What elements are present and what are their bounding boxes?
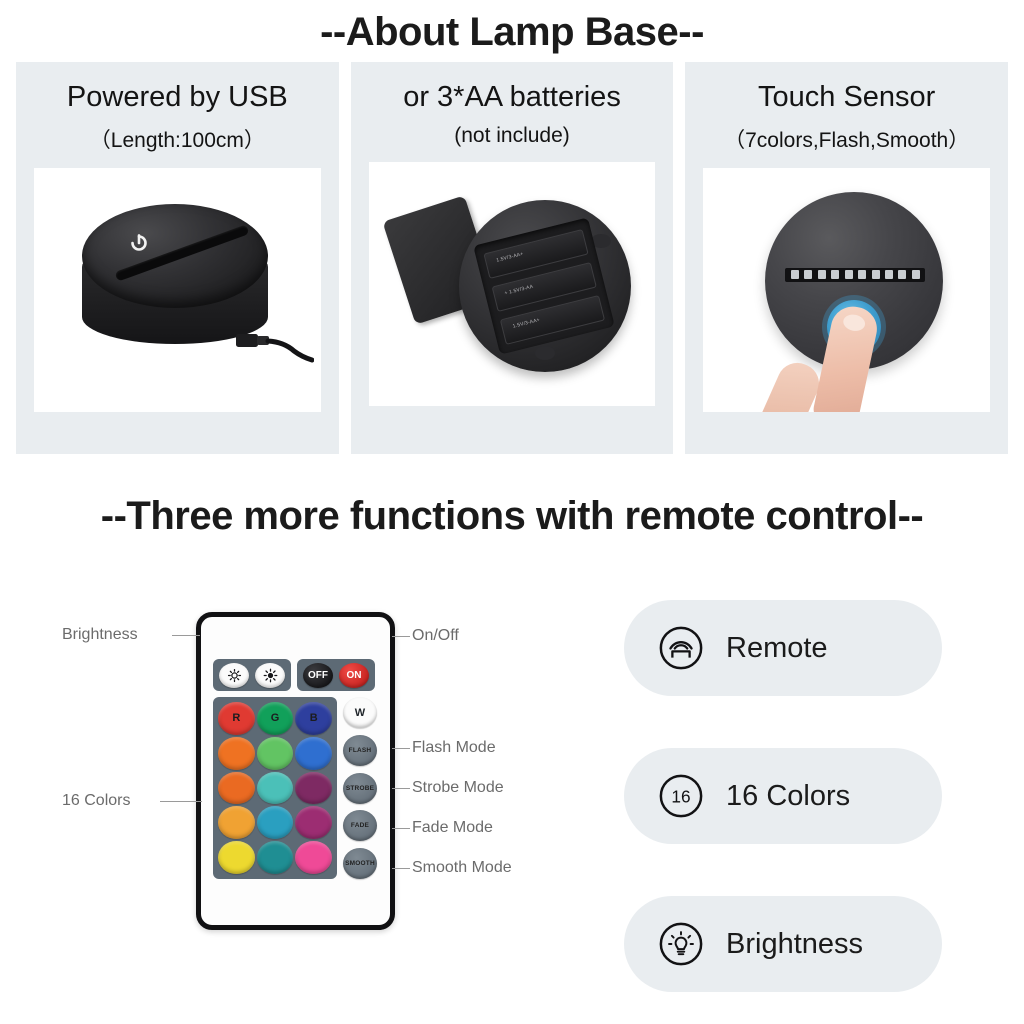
- panel-subtitle: （Length:100cm）: [90, 124, 265, 154]
- color-button-6[interactable]: [295, 737, 332, 770]
- battery-compartment-photo: 1.5V/3-AA+ + 1.5V/3-AA 1.5V/3-AA+: [369, 162, 656, 406]
- leader-line: [392, 788, 410, 789]
- remote-control[interactable]: OFF ON RGB WFLASHSTROBEFADESMOOTH: [196, 612, 395, 930]
- leader-line: [392, 748, 410, 749]
- brightness-down-button[interactable]: [219, 663, 249, 688]
- feature-pill-16-colors[interactable]: 16 16 Colors: [624, 748, 942, 844]
- color-button-b[interactable]: B: [295, 702, 332, 735]
- product-infographic-page: --About Lamp Base-- Powered by USB （Leng…: [0, 0, 1024, 1024]
- mode-button-flash[interactable]: FLASH: [343, 735, 377, 766]
- callout-16-colors: 16 Colors: [62, 792, 130, 810]
- mode-button-strobe[interactable]: STROBE: [343, 773, 377, 804]
- power-button-group: OFF ON: [297, 659, 375, 691]
- mode-button-column: WFLASHSTROBEFADESMOOTH: [341, 697, 385, 879]
- battery-compartment: 1.5V/3-AA+ + 1.5V/3-AA 1.5V/3-AA+: [397, 184, 647, 384]
- feature-pill-brightness[interactable]: Brightness: [624, 896, 942, 992]
- power-off-button[interactable]: OFF: [303, 663, 333, 688]
- circle-16-icon: 16: [658, 773, 704, 819]
- feature-pill-list: Remote 16 16 Colors: [624, 600, 942, 1024]
- panel-aa-batteries: or 3*AA batteries (not include) 1.5V/3-A…: [351, 62, 674, 454]
- page-title-remote-functions: --Three more functions with remote contr…: [0, 494, 1024, 539]
- lamp-base-panel-row: Powered by USB （Length:100cm）: [16, 62, 1008, 454]
- battery-slot-label: + 1.5V/3-AA: [504, 284, 534, 297]
- callout-flash-mode: Flash Mode: [412, 739, 496, 757]
- brightness-button-group: [213, 659, 291, 691]
- callout-smooth-mode: Smooth Mode: [412, 859, 512, 877]
- color-button-7[interactable]: [218, 772, 255, 805]
- mode-button-fade[interactable]: FADE: [343, 810, 377, 841]
- color-button-g[interactable]: G: [257, 702, 294, 735]
- leader-line: [160, 801, 202, 802]
- panel-subtitle: （7colors,Flash,Smooth）: [724, 124, 969, 154]
- color-button-15[interactable]: [295, 841, 332, 874]
- mode-button-w[interactable]: W: [343, 697, 377, 728]
- usb-cable-icon: [236, 326, 314, 364]
- color-button-r[interactable]: R: [218, 702, 255, 735]
- power-icon: [126, 230, 152, 256]
- color-button-8[interactable]: [257, 772, 294, 805]
- leader-line: [392, 828, 410, 829]
- mode-button-smooth[interactable]: SMOOTH: [343, 848, 377, 879]
- lamp-base-usb-photo: [34, 168, 321, 412]
- battery-slot-label: 1.5V/3-AA+: [495, 251, 523, 264]
- panel-title: Powered by USB: [67, 82, 288, 114]
- lamp-base-underside: 1.5V/3-AA+ + 1.5V/3-AA 1.5V/3-AA+: [459, 200, 631, 372]
- color-button-10[interactable]: [218, 806, 255, 839]
- remote-top-row: OFF ON: [213, 659, 379, 691]
- page-title-about-lamp-base: --About Lamp Base--: [0, 10, 1024, 55]
- feature-pill-remote[interactable]: Remote: [624, 600, 942, 696]
- remote-control-section: OFF ON RGB WFLASHSTROBEFADESMOOTH Bright…: [0, 560, 1024, 1024]
- brightness-up-button[interactable]: [255, 663, 285, 688]
- color-button-9[interactable]: [295, 772, 332, 805]
- leader-line: [392, 868, 410, 869]
- brightness-up-icon: [263, 668, 278, 683]
- touch-sensor-photo: [703, 168, 990, 412]
- color-button-4[interactable]: [218, 737, 255, 770]
- color-button-12[interactable]: [295, 806, 332, 839]
- callout-on-off: On/Off: [412, 627, 459, 645]
- panel-powered-by-usb: Powered by USB （Length:100cm）: [16, 62, 339, 454]
- panel-title: Touch Sensor: [758, 82, 935, 114]
- feature-pill-label: 16 Colors: [726, 780, 850, 813]
- feature-pill-label: Remote: [726, 632, 828, 665]
- badge-16-text: 16: [671, 787, 690, 807]
- rubber-foot: [535, 346, 555, 360]
- battery-slot-label: 1.5V/3-AA+: [512, 317, 540, 330]
- panel-subtitle: (not include): [454, 124, 570, 148]
- panel-touch-sensor: Touch Sensor （7colors,Flash,Smooth）: [685, 62, 1008, 454]
- feature-pill-label: Brightness: [726, 928, 863, 961]
- power-on-button[interactable]: ON: [339, 663, 369, 688]
- callout-brightness: Brightness: [62, 626, 138, 644]
- color-button-5[interactable]: [257, 737, 294, 770]
- brightness-down-icon: [227, 668, 242, 683]
- panel-title: or 3*AA batteries: [403, 82, 621, 114]
- touch-sensor-assembly: [753, 186, 963, 396]
- lamp-base-top: [82, 204, 268, 308]
- color-button-14[interactable]: [257, 841, 294, 874]
- led-strip: [785, 268, 925, 282]
- callout-fade-mode: Fade Mode: [412, 819, 493, 837]
- lightbulb-icon: [658, 921, 704, 967]
- remote-signal-icon: [658, 625, 704, 671]
- leader-line: [172, 635, 200, 636]
- color-button-13[interactable]: [218, 841, 255, 874]
- callout-strobe-mode: Strobe Mode: [412, 779, 504, 797]
- color-button-grid: RGB: [213, 697, 337, 879]
- lamp-base-3d: [76, 200, 286, 370]
- color-button-11[interactable]: [257, 806, 294, 839]
- leader-line: [392, 636, 410, 637]
